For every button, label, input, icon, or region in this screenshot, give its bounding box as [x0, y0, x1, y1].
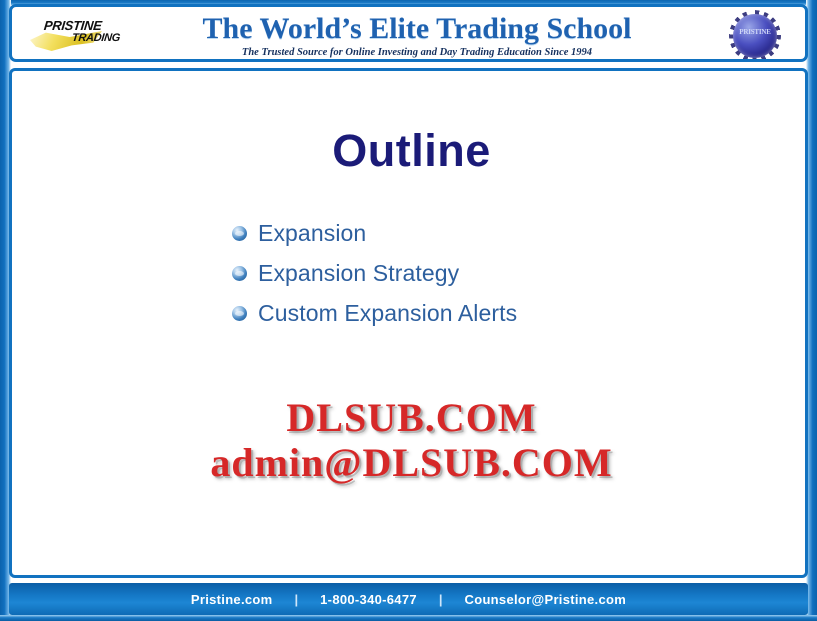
- slide-body: Outline Expansion Expansion Strategy Cus…: [9, 68, 808, 578]
- pristine-trading-logo: PRISTINE TRADING: [30, 15, 150, 53]
- footer-email[interactable]: Counselor@Pristine.com: [465, 592, 627, 607]
- footer-website[interactable]: Pristine.com: [191, 592, 273, 607]
- list-item-label: Custom Expansion Alerts: [258, 300, 517, 327]
- badge-seal-circle: [733, 14, 777, 58]
- sphere-bullet-icon: [232, 306, 247, 321]
- sphere-bullet-icon: [232, 266, 247, 281]
- list-item-label: Expansion: [258, 220, 366, 247]
- outline-bullet-list: Expansion Expansion Strategy Custom Expa…: [232, 213, 752, 333]
- slide-header: PRISTINE TRADING The World’s Elite Tradi…: [9, 4, 808, 62]
- header-tagline: The Trusted Source for Online Investing …: [172, 47, 662, 58]
- presentation-slide: PRISTINE TRADING The World’s Elite Tradi…: [0, 0, 817, 621]
- frame-border-bottom: [0, 615, 817, 621]
- watermark-email: admin@DLSUB.COM: [12, 441, 808, 486]
- list-item: Expansion Strategy: [232, 253, 752, 293]
- watermark: DLSUB.COM admin@DLSUB.COM: [12, 396, 808, 486]
- list-item: Expansion: [232, 213, 752, 253]
- page-title: Outline: [12, 125, 808, 177]
- watermark-site: DLSUB.COM: [12, 396, 808, 441]
- sphere-bullet-icon: [232, 226, 247, 241]
- footer-separator-1: |: [273, 592, 321, 607]
- footer-separator-2: |: [417, 592, 465, 607]
- logo-word-pristine: PRISTINE: [43, 18, 102, 33]
- footer-phone[interactable]: 1-800-340-6477: [320, 592, 417, 607]
- seal-badge-icon: PRISTINE: [729, 10, 781, 62]
- badge-label: PRISTINE: [729, 28, 781, 36]
- list-item: Custom Expansion Alerts: [232, 293, 752, 333]
- list-item-label: Expansion Strategy: [258, 260, 459, 287]
- logo-word-trading: TRADING: [71, 32, 120, 44]
- slide-footer: Pristine.com | 1-800-340-6477 | Counselo…: [9, 583, 808, 615]
- header-title: The World’s Elite Trading School: [172, 12, 662, 46]
